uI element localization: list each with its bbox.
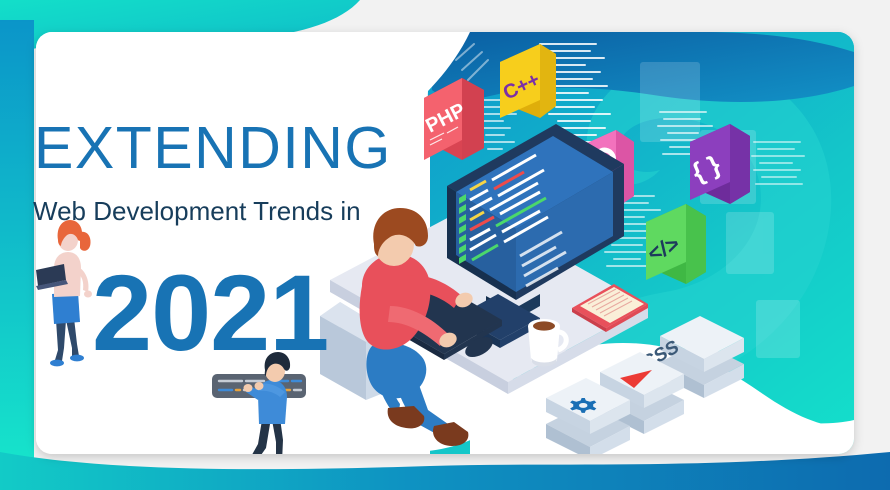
page-title: EXTENDING [34, 115, 392, 181]
year-label: 2021 [92, 252, 328, 373]
page-subtitle: Web Development Trends in [33, 196, 361, 226]
banner-illustration: PHP C++ [0, 0, 890, 490]
banner-canvas: PHP C++ [0, 0, 890, 490]
